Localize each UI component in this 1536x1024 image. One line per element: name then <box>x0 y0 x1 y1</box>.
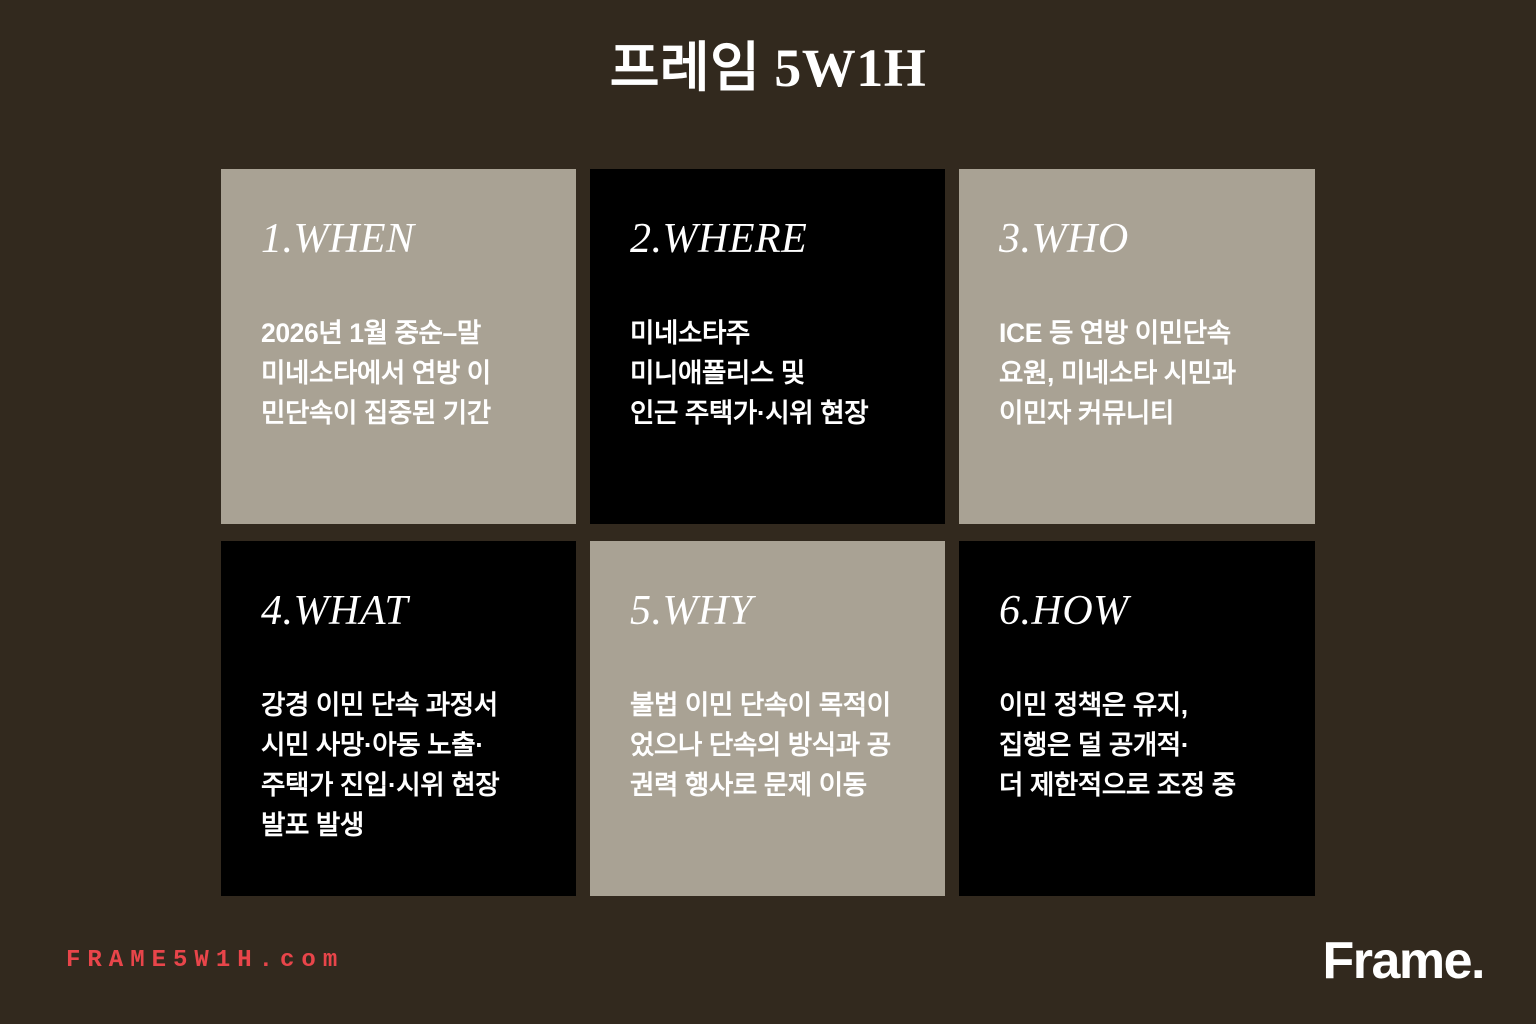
card-body-when: 2026년 1월 중순–말 미네소타에서 연방 이 민단속이 집중된 기간 <box>261 313 542 433</box>
card-heading-how: 6.HOW <box>999 587 1281 635</box>
card-who: 3.WHO ICE 등 연방 이민단속 요원, 미네소타 시민과 이민자 커뮤니… <box>959 169 1315 524</box>
card-grid: 1.WHEN 2026년 1월 중순–말 미네소타에서 연방 이 민단속이 집중… <box>221 169 1315 896</box>
card-heading-when: 1.WHEN <box>261 215 542 263</box>
card-body-who: ICE 등 연방 이민단속 요원, 미네소타 시민과 이민자 커뮤니티 <box>999 313 1281 433</box>
card-body-what: 강경 이민 단속 과정서 시민 사망·아동 노출· 주택가 진입·시위 현장 발… <box>261 685 542 845</box>
card-why: 5.WHY 불법 이민 단속이 목적이 었으나 단속의 방식과 공 권력 행사로… <box>590 541 945 896</box>
footer-brand-logo: Frame. <box>1322 932 1484 990</box>
card-what: 4.WHAT 강경 이민 단속 과정서 시민 사망·아동 노출· 주택가 진입·… <box>221 541 576 896</box>
card-heading-what: 4.WHAT <box>261 587 542 635</box>
card-when: 1.WHEN 2026년 1월 중순–말 미네소타에서 연방 이 민단속이 집중… <box>221 169 576 524</box>
footer-website-url[interactable]: FRAME5W1H.com <box>66 946 344 976</box>
card-heading-where: 2.WHERE <box>630 215 911 263</box>
card-heading-why: 5.WHY <box>630 587 911 635</box>
card-body-why: 불법 이민 단속이 목적이 었으나 단속의 방식과 공 권력 행사로 문제 이동 <box>630 685 911 805</box>
page-title: 프레임 5W1H <box>0 36 1536 100</box>
card-body-where: 미네소타주 미니애폴리스 및 인근 주택가·시위 현장 <box>630 313 911 433</box>
card-where: 2.WHERE 미네소타주 미니애폴리스 및 인근 주택가·시위 현장 <box>590 169 945 524</box>
card-heading-who: 3.WHO <box>999 215 1281 263</box>
card-how: 6.HOW 이민 정책은 유지, 집행은 덜 공개적· 더 제한적으로 조정 중 <box>959 541 1315 896</box>
card-body-how: 이민 정책은 유지, 집행은 덜 공개적· 더 제한적으로 조정 중 <box>999 685 1281 805</box>
